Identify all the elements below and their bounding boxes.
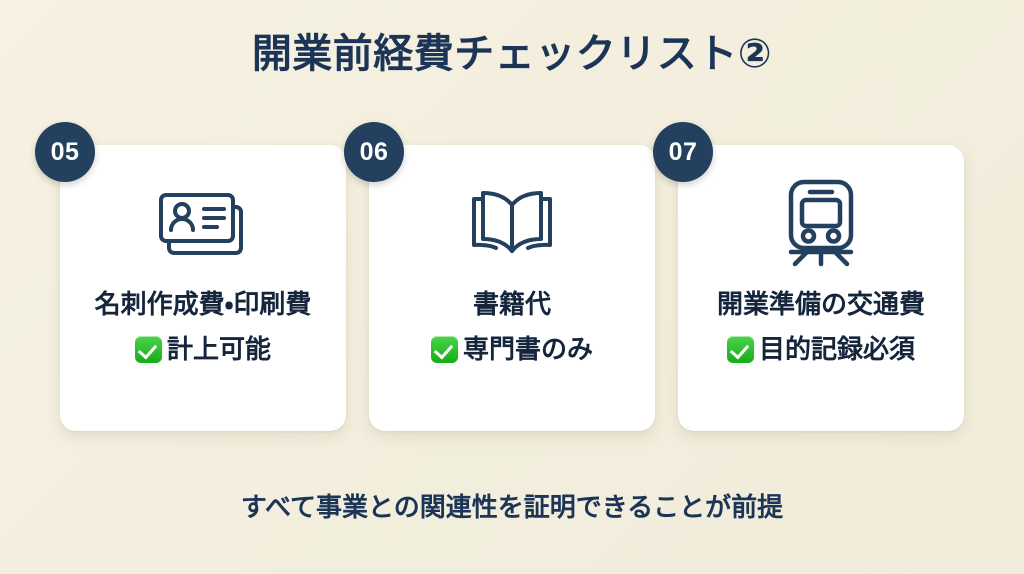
footer-note: すべて事業との関連性を証明できることが前提 <box>0 489 1024 525</box>
open-book-icon <box>467 177 557 269</box>
check-mark-icon <box>431 336 458 363</box>
checklist-card-06[interactable]: 06 書籍代 専門書のみ <box>369 145 655 431</box>
card-title: 開業準備の交通費 <box>717 287 925 321</box>
card-number-badge: 06 <box>344 122 404 182</box>
page-title: 開業前経費チェックリスト② <box>0 28 1024 80</box>
slide-canvas: 開業前経費チェックリスト② 05 名刺作成費・印刷費 計上可能 <box>0 0 1024 574</box>
card-status-label: 目的記録必須 <box>759 332 915 366</box>
train-icon <box>779 177 863 269</box>
card-status: 目的記録必須 <box>727 332 915 366</box>
checklist-card-row: 05 名刺作成費・印刷費 計上可能 06 <box>60 145 964 431</box>
card-number-badge: 07 <box>653 122 713 182</box>
card-status-label: 計上可能 <box>167 332 271 366</box>
check-mark-icon <box>135 336 162 363</box>
business-card-icon <box>155 177 251 269</box>
card-title: 書籍代 <box>473 287 551 321</box>
card-status: 計上可能 <box>135 332 271 366</box>
check-mark-icon <box>727 336 754 363</box>
card-number-badge: 05 <box>35 122 95 182</box>
checklist-card-05[interactable]: 05 名刺作成費・印刷費 計上可能 <box>60 145 346 431</box>
card-status: 専門書のみ <box>431 332 593 366</box>
card-status-label: 専門書のみ <box>463 332 593 366</box>
card-title: 名刺作成費・印刷費 <box>95 287 312 321</box>
checklist-card-07[interactable]: 07 開業準備の交通費 目的記録必須 <box>678 145 964 431</box>
